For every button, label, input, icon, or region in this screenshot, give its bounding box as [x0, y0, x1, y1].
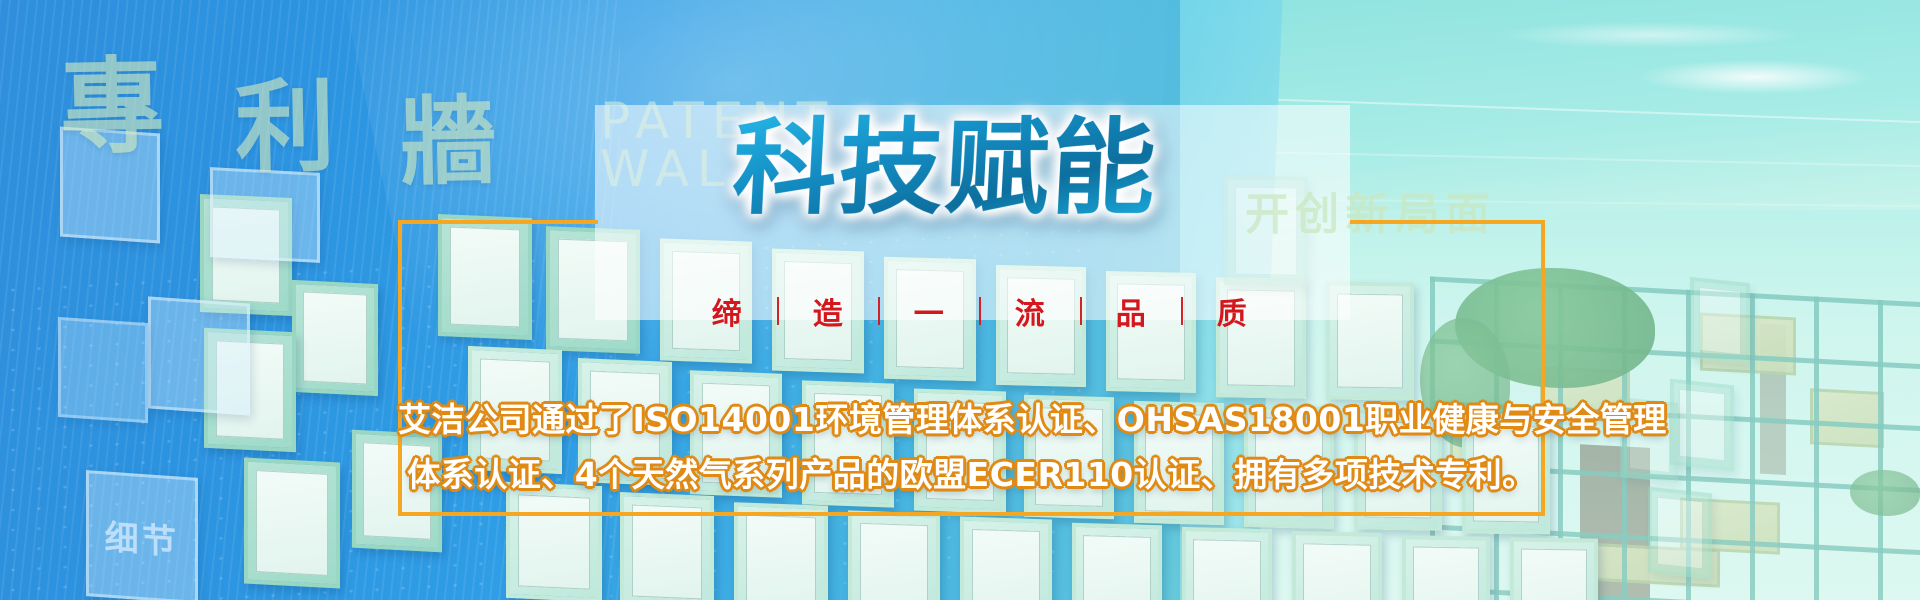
- subtitle-char-5: 品: [1104, 289, 1159, 333]
- subtitle-char-6: 质: [1205, 289, 1260, 333]
- wall-detail-panel-label: 细节: [89, 509, 195, 565]
- subtitle-separator: [1080, 297, 1082, 325]
- certificate-frame: [1072, 523, 1162, 600]
- certificate-frame: [1510, 537, 1598, 600]
- wall-char-qiang: 牆: [399, 63, 499, 204]
- certificate-frame: [1182, 527, 1272, 600]
- certificate-frame: [734, 502, 828, 600]
- subtitle-row: 缔 造 一 流 品 质: [700, 285, 1260, 337]
- subtitle-separator: [979, 297, 981, 325]
- body-paragraph: 艾洁公司通过了ISO14001环境管理体系认证、OHSAS18001职业健康与安…: [398, 392, 1545, 502]
- wall-photo-panel: [148, 296, 250, 415]
- main-headline: 科技赋能: [730, 108, 1296, 228]
- body-line-1: 艾洁公司通过了ISO14001环境管理体系认证、OHSAS18001职业健康与安…: [398, 392, 1545, 447]
- subtitle-char-1: 缔: [700, 289, 755, 333]
- subtitle-separator: [1181, 297, 1183, 325]
- body-line-2: 体系认证、4个天然气系列产品的欧盟ECER110认证、拥有多项技术专利。: [398, 447, 1545, 502]
- certificate-frame: [1648, 487, 1712, 580]
- certificate-frame: [960, 517, 1052, 600]
- certificate-frame: [620, 492, 714, 600]
- certificate-frame: [1670, 379, 1734, 472]
- wall-char-zhuan: 專: [59, 21, 168, 174]
- certificate-frame: [292, 280, 378, 396]
- certificate-frame: [438, 214, 532, 340]
- subtitle-char-4: 流: [1003, 289, 1058, 333]
- wall-detail-panel: 细节: [86, 470, 198, 600]
- certificate-frame: [1292, 531, 1382, 600]
- frame-bottom-edge: [398, 512, 1545, 516]
- subtitle-char-2: 造: [801, 289, 856, 333]
- certificate-frame: [1690, 277, 1750, 365]
- subtitle-separator: [777, 297, 779, 325]
- wall-char-li: 利: [234, 45, 339, 192]
- wall-photo-panel: [58, 317, 148, 423]
- certificate-frame: [244, 457, 340, 588]
- subtitle-separator: [878, 297, 880, 325]
- certificate-frame: [848, 510, 940, 600]
- frame-top-right-segment: [1350, 220, 1545, 224]
- frame-top-left-segment: [398, 220, 598, 224]
- subtitle-char-3: 一: [902, 289, 957, 333]
- certificate-frame: [1402, 535, 1490, 600]
- patent-wall-banner: 细节 專 利 牆 PATENT WALL 开创新局面 科技赋能 缔 造 一 流 …: [0, 0, 1920, 600]
